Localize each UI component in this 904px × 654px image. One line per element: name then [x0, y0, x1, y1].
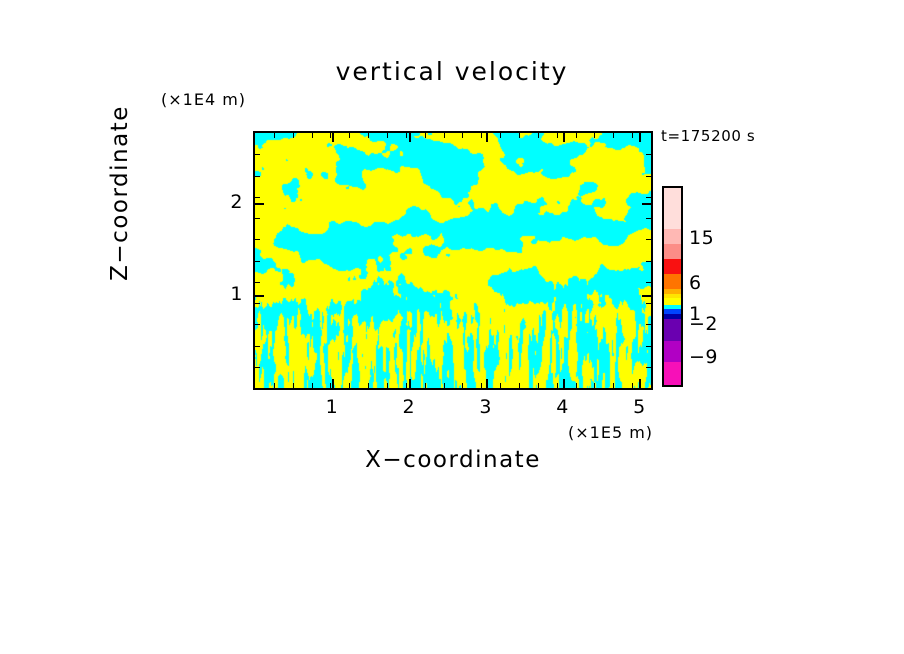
- x-tick-label: 4: [543, 396, 583, 418]
- y-minor-tick: [255, 303, 260, 304]
- colorbar-tick-label: −2: [689, 313, 718, 335]
- y-major-tick-right: [642, 203, 651, 205]
- colorbar: [662, 186, 683, 387]
- x-minor-tick: [538, 383, 539, 388]
- time-annotation: t=175200 s: [661, 127, 755, 145]
- x-minor-tick: [557, 383, 558, 388]
- x-axis-title: X−coordinate: [253, 447, 653, 473]
- plot-area: [253, 131, 653, 390]
- x-minor-tick-top: [312, 133, 313, 138]
- x-minor-tick-top: [349, 133, 350, 138]
- x-minor-tick-top: [594, 133, 595, 138]
- x-major-tick-top: [563, 133, 565, 142]
- x-tick-label: 1: [312, 396, 352, 418]
- y-minor-tick-right: [646, 176, 651, 177]
- x-minor-tick-top: [576, 133, 577, 138]
- y-minor-tick-right: [646, 282, 651, 283]
- x-minor-tick: [387, 383, 388, 388]
- y-minor-tick: [255, 239, 260, 240]
- x-major-tick: [563, 379, 565, 388]
- x-minor-tick: [519, 383, 520, 388]
- colorbar-tick-label: 15: [689, 227, 714, 249]
- contour-field: [255, 133, 651, 388]
- x-major-tick: [639, 379, 641, 388]
- y-minor-tick-right: [646, 218, 651, 219]
- colorbar-band: [664, 229, 681, 244]
- y-tick-label: 2: [213, 191, 243, 213]
- x-minor-tick: [425, 383, 426, 388]
- y-minor-tick: [255, 197, 260, 198]
- x-major-tick-top: [409, 133, 411, 142]
- y-minor-tick: [255, 261, 260, 262]
- x-minor-tick-top: [444, 133, 445, 138]
- x-minor-tick-top: [406, 133, 407, 138]
- y-axis-units-label: (×1E4 m): [161, 90, 246, 109]
- y-minor-tick-right: [646, 324, 651, 325]
- colorbar-tick-label: 6: [689, 272, 702, 294]
- y-minor-tick: [255, 218, 260, 219]
- x-minor-tick: [368, 383, 369, 388]
- x-minor-tick-top: [519, 133, 520, 138]
- y-minor-tick: [255, 324, 260, 325]
- x-minor-tick: [481, 383, 482, 388]
- colorbar-band: [664, 341, 681, 363]
- y-minor-tick: [255, 367, 260, 368]
- y-major-tick-right: [642, 295, 651, 297]
- x-minor-tick-top: [500, 133, 501, 138]
- x-minor-tick: [406, 383, 407, 388]
- colorbar-band: [664, 362, 681, 385]
- x-minor-tick: [500, 383, 501, 388]
- y-major-tick: [255, 295, 264, 297]
- x-major-tick-top: [332, 133, 334, 142]
- x-major-tick: [409, 379, 411, 388]
- x-major-tick: [332, 379, 334, 388]
- x-axis-units-label: (×1E5 m): [568, 423, 653, 442]
- y-major-tick: [255, 203, 264, 205]
- x-minor-tick: [274, 383, 275, 388]
- x-minor-tick-top: [368, 133, 369, 138]
- x-minor-tick-top: [330, 133, 331, 138]
- colorbar-band: [664, 244, 681, 259]
- colorbar-tick-label: −9: [689, 346, 718, 368]
- x-minor-tick-top: [613, 133, 614, 138]
- x-tick-label: 2: [389, 396, 429, 418]
- figure-canvas: vertical velocity (×1E4 m) t=175200 s 12…: [0, 0, 904, 654]
- x-minor-tick-top: [632, 133, 633, 138]
- x-minor-tick: [293, 383, 294, 388]
- x-minor-tick-top: [462, 133, 463, 138]
- colorbar-band: [664, 259, 681, 274]
- colorbar-band: [664, 274, 681, 290]
- x-tick-label: 5: [619, 396, 659, 418]
- x-major-tick-top: [639, 133, 641, 142]
- y-minor-tick: [255, 176, 260, 177]
- colorbar-band: [664, 188, 681, 229]
- y-tick-label: 1: [213, 283, 243, 305]
- y-minor-tick-right: [646, 346, 651, 347]
- y-minor-tick: [255, 154, 260, 155]
- x-minor-tick-top: [293, 133, 294, 138]
- page-title: vertical velocity: [0, 57, 904, 86]
- x-minor-tick-top: [538, 133, 539, 138]
- colorbar-band: [664, 319, 681, 341]
- y-minor-tick: [255, 346, 260, 347]
- x-minor-tick-top: [274, 133, 275, 138]
- x-minor-tick: [312, 383, 313, 388]
- y-axis-title: Z−coordinate: [107, 63, 133, 323]
- x-minor-tick: [330, 383, 331, 388]
- y-minor-tick-right: [646, 303, 651, 304]
- x-minor-tick-top: [557, 133, 558, 138]
- colorbar-band: [664, 298, 681, 305]
- x-minor-tick: [462, 383, 463, 388]
- x-major-tick: [486, 379, 488, 388]
- x-minor-tick: [349, 383, 350, 388]
- y-minor-tick-right: [646, 239, 651, 240]
- x-tick-label: 3: [466, 396, 506, 418]
- y-minor-tick-right: [646, 261, 651, 262]
- x-minor-tick-top: [387, 133, 388, 138]
- x-minor-tick: [444, 383, 445, 388]
- y-minor-tick: [255, 282, 260, 283]
- y-minor-tick-right: [646, 197, 651, 198]
- x-minor-tick: [594, 383, 595, 388]
- x-minor-tick: [576, 383, 577, 388]
- x-minor-tick: [632, 383, 633, 388]
- y-minor-tick-right: [646, 367, 651, 368]
- x-minor-tick-top: [425, 133, 426, 138]
- x-minor-tick: [613, 383, 614, 388]
- y-minor-tick-right: [646, 154, 651, 155]
- x-minor-tick-top: [481, 133, 482, 138]
- x-major-tick-top: [486, 133, 488, 142]
